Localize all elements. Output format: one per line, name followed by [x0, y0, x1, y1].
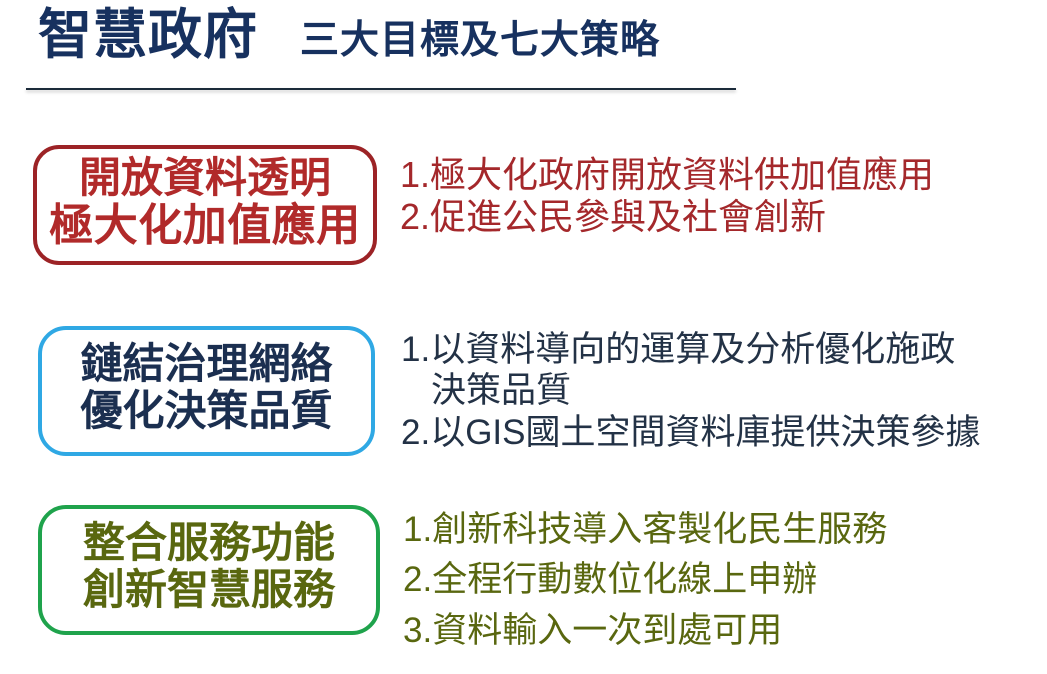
strategy-text: 創新科技導入客製化民生服務	[432, 509, 887, 550]
strategy-list-open-data: 1. 極大化政府開放資料供加值應用 2. 促進公民參與及社會創新	[377, 145, 1047, 239]
strategy-item: 3. 資料輸入一次到處可用	[403, 610, 1047, 651]
title-divider	[26, 88, 736, 90]
page-header: 智慧政府 三大目標及七大策略	[0, 0, 1047, 100]
strategy-item: 2. 全程行動數位化線上申辦	[403, 559, 1047, 600]
strategy-number: 3.	[403, 610, 432, 651]
goal-pill-line-1: 開放資料透明	[37, 154, 373, 201]
strategy-text-continuation: 決策品質	[401, 370, 1047, 411]
goal-group-governance-network: 鏈結治理網絡 優化決策品質 1. 以資料導向的運算及分析優化施政 決策品質 2.…	[0, 326, 1047, 456]
goal-group-smart-service: 整合服務功能 創新智慧服務 1. 創新科技導入客製化民生服務 2. 全程行動數位…	[0, 505, 1047, 660]
strategy-text: 資料輸入一次到處可用	[432, 610, 782, 651]
strategy-text: 極大化政府開放資料供加值應用	[430, 154, 934, 196]
title-main: 智慧政府	[38, 4, 258, 66]
strategy-item: 2. 促進公民參與及社會創新	[400, 196, 1047, 238]
strategy-list-smart-service: 1. 創新科技導入客製化民生服務 2. 全程行動數位化線上申辦 3. 資料輸入一…	[380, 505, 1047, 660]
strategy-number: 2.	[403, 559, 432, 600]
strategy-text: 促進公民參與及社會創新	[430, 196, 826, 238]
goal-pill-open-data: 開放資料透明 極大化加值應用	[33, 145, 377, 265]
goal-pill-line-1: 鏈結治理網絡	[42, 340, 371, 387]
goal-pill-line-2: 極大化加值應用	[29, 201, 381, 250]
strategy-number: 1.	[401, 329, 430, 370]
goal-group-open-data: 開放資料透明 極大化加值應用 1. 極大化政府開放資料供加值應用 2. 促進公民…	[0, 145, 1047, 265]
goal-pill-smart-service: 整合服務功能 創新智慧服務	[38, 505, 380, 635]
strategy-item: 1. 以資料導向的運算及分析優化施政	[401, 329, 1047, 370]
page-title: 智慧政府 三大目標及七大策略	[38, 4, 660, 66]
goal-pill-line-2: 創新智慧服務	[42, 566, 376, 613]
strategy-number: 2.	[401, 412, 430, 453]
strategy-item: 1. 創新科技導入客製化民生服務	[403, 509, 1047, 550]
strategy-number: 1.	[400, 154, 430, 196]
strategy-number: 1.	[403, 509, 432, 550]
strategy-item: 2. 以GIS國土空間資料庫提供決策參據	[401, 412, 1047, 453]
strategy-text: 以資料導向的運算及分析優化施政	[430, 329, 955, 370]
strategy-number: 2.	[400, 196, 430, 238]
goal-pill-line-2: 優化決策品質	[42, 387, 371, 434]
goal-pill-line-1: 整合服務功能	[42, 519, 376, 566]
strategy-item: 1. 極大化政府開放資料供加值應用	[400, 154, 1047, 196]
strategy-text: 以GIS國土空間資料庫提供決策參據	[430, 412, 980, 453]
goal-pill-governance-network: 鏈結治理網絡 優化決策品質	[38, 326, 375, 456]
strategy-text: 全程行動數位化線上申辦	[432, 559, 817, 600]
strategy-list-governance-network: 1. 以資料導向的運算及分析優化施政 決策品質 2. 以GIS國土空間資料庫提供…	[375, 326, 1047, 453]
title-subtitle: 三大目標及七大策略	[300, 19, 660, 64]
